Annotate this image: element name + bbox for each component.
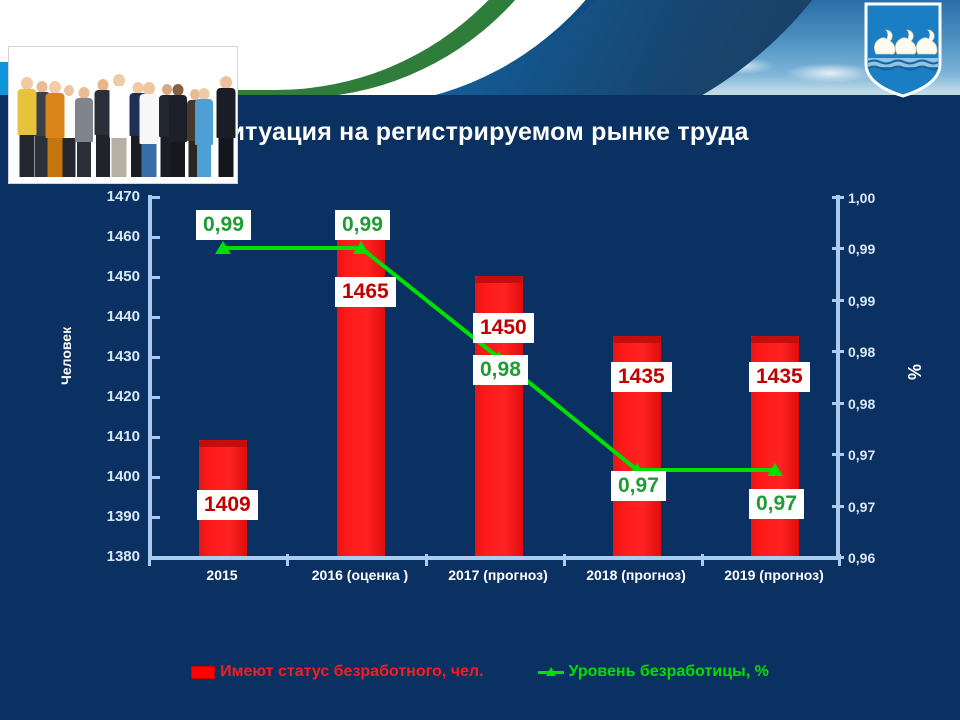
y-axis-right-tick bbox=[832, 453, 844, 456]
bar-swatch-icon bbox=[191, 666, 215, 679]
chart-canvas: 1470 1460 1450 1440 1430 1420 1410 1400 … bbox=[0, 165, 960, 645]
y-axis-right-label: 0,96 bbox=[848, 550, 898, 566]
rate-value-label-2017: 0,98 bbox=[473, 355, 528, 385]
y-axis-left-label: 1380 bbox=[78, 548, 140, 565]
bar-value-label-2017: 1450 bbox=[473, 313, 534, 343]
bar-2016 bbox=[337, 216, 385, 556]
x-axis-category-2017: 2017 (прогноз) bbox=[429, 567, 567, 583]
rate-value-label-2018: 0,97 bbox=[611, 471, 666, 501]
y-axis-right-label: 0,97 bbox=[848, 447, 898, 463]
y-axis-left-tick bbox=[148, 476, 160, 479]
coat-of-arms-three-swans-icon bbox=[864, 2, 942, 98]
y-axis-right-tick bbox=[832, 299, 844, 302]
y-axis-right-tick bbox=[832, 505, 844, 508]
x-axis-line bbox=[148, 556, 840, 560]
y-axis-left-tick bbox=[148, 396, 160, 399]
x-axis-tick bbox=[563, 554, 566, 566]
x-axis-tick bbox=[286, 554, 289, 566]
y-axis-right-label: 0,97 bbox=[848, 499, 898, 515]
x-axis-tick bbox=[425, 554, 428, 566]
rate-value-label-2019: 0,97 bbox=[749, 489, 804, 519]
y-axis-left-tick bbox=[148, 236, 160, 239]
y-axis-left-tick bbox=[148, 276, 160, 279]
rate-value-label-2016: 0,99 bbox=[335, 210, 390, 240]
legend-label-unemployment-rate: Уровень безработицы, % bbox=[569, 663, 769, 681]
x-axis-category-2015: 2015 bbox=[153, 567, 291, 583]
y-axis-right-tick bbox=[832, 247, 844, 250]
y-axis-left-label: 1400 bbox=[78, 468, 140, 485]
x-axis-tick bbox=[838, 554, 841, 566]
y-axis-left-tick bbox=[148, 516, 160, 519]
y-axis-left-label: 1460 bbox=[78, 228, 140, 245]
y-axis-left-label: 1440 bbox=[78, 308, 140, 325]
y-axis-left-label: 1470 bbox=[78, 188, 140, 205]
x-axis-tick bbox=[701, 554, 704, 566]
legend-item-unemployment-rate[interactable]: Уровень безработицы, % bbox=[538, 663, 769, 681]
x-axis-category-2018: 2018 (прогноз) bbox=[567, 567, 705, 583]
bar-value-label-2016: 1465 bbox=[335, 277, 396, 307]
y-axis-left-tick bbox=[148, 316, 160, 319]
x-axis-category-2016: 2016 (оценка ) bbox=[291, 567, 429, 583]
y-axis-left-tick bbox=[148, 196, 160, 199]
y-axis-left-label: 1420 bbox=[78, 388, 140, 405]
y-axis-left-label: 1450 bbox=[78, 268, 140, 285]
chart-legend: Имеют статус безработного, чел. Уровень … bbox=[0, 655, 960, 689]
x-axis-category-2019: 2019 (прогноз) bbox=[705, 567, 843, 583]
x-axis-tick bbox=[148, 554, 151, 566]
bar-value-label-2015: 1409 bbox=[197, 490, 258, 520]
group-of-workers-photo bbox=[8, 46, 238, 184]
y-axis-right-tick bbox=[832, 196, 844, 199]
y-axis-left-label: 1390 bbox=[78, 508, 140, 525]
rate-value-label-2015: 0,99 bbox=[196, 210, 251, 240]
y-axis-right-tick bbox=[832, 402, 844, 405]
y-axis-left-tick bbox=[148, 436, 160, 439]
bar-value-label-2018: 1435 bbox=[611, 362, 672, 392]
y-axis-right-title: % bbox=[905, 364, 926, 380]
line-triangle-icon bbox=[538, 666, 564, 678]
y-axis-left-line bbox=[148, 195, 152, 558]
y-axis-left-tick bbox=[148, 356, 160, 359]
y-axis-right-label: 0,98 bbox=[848, 344, 898, 360]
legend-item-unemployed-count[interactable]: Имеют статус безработного, чел. bbox=[191, 663, 483, 681]
y-axis-left-label: 1410 bbox=[78, 428, 140, 445]
bar-value-label-2019: 1435 bbox=[749, 362, 810, 392]
crowd-illustration bbox=[9, 47, 237, 183]
y-axis-left-label: 1430 bbox=[78, 348, 140, 365]
y-axis-right-label: 0,99 bbox=[848, 293, 898, 309]
y-axis-right-label: 0,99 bbox=[848, 241, 898, 257]
y-axis-right-tick bbox=[832, 350, 844, 353]
legend-label-unemployed-count: Имеют статус безработного, чел. bbox=[220, 663, 483, 681]
y-axis-left-title: Человек bbox=[58, 327, 74, 385]
y-axis-right-label: 0,98 bbox=[848, 396, 898, 412]
y-axis-right-label: 1,00 bbox=[848, 190, 898, 206]
